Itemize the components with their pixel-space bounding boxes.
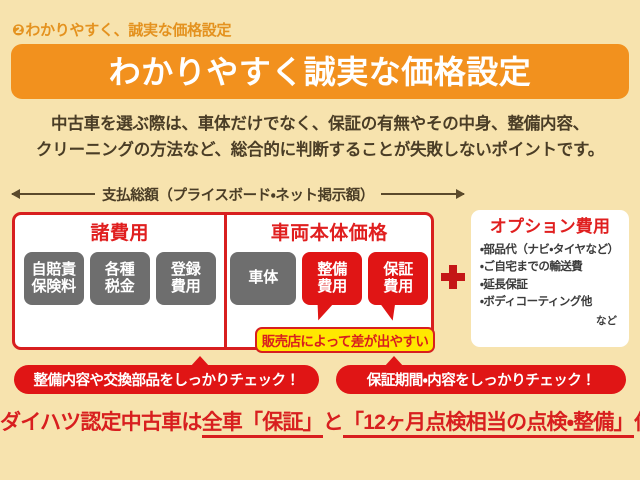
- options-cost-box: オプション費用 ・部品代（ナビ・タイヤなど） ・ご自宅までの輸送費 ・延長保証 …: [471, 210, 629, 347]
- plus-icon: [441, 265, 465, 289]
- options-list: ・部品代（ナビ・タイヤなど） ・ご自宅までの輸送費 ・延長保証 ・ボディコーティ…: [480, 242, 620, 311]
- chip-various-taxes: 各種 税金: [90, 252, 150, 305]
- banner-tail-icon: [190, 356, 210, 367]
- tagline-underline-inspection: 「12ヶ月点検相当の点検・整備」: [343, 411, 634, 438]
- list-item: ・部品代（ナビ・タイヤなど）: [480, 242, 620, 259]
- total-amount-row: 支払総額（プライスボード・ネット掲示額）: [12, 183, 464, 205]
- options-note: など: [480, 313, 620, 328]
- dealer-difference-callout: 販売店によって差が出やすい: [255, 327, 435, 353]
- section-kicker: ❷わかりやすく、誠実な価格設定: [12, 19, 231, 40]
- tagline-underline-warranty: 全車「保証」: [202, 411, 323, 438]
- page-title: わかりやすく誠実な価格設定: [109, 56, 532, 88]
- fees-column: 諸費用 自賠責 保険料 各種 税金 登録 費用: [15, 215, 227, 347]
- chip-line-2: 費用: [383, 279, 413, 296]
- chip-line-2: 費用: [317, 279, 347, 296]
- list-item: ・ボディコーティング他: [480, 294, 620, 311]
- chip-compulsory-insurance: 自賠責 保険料: [24, 252, 84, 305]
- total-amount-label: 支払総額（プライスボード・ネット掲示額）: [102, 184, 374, 205]
- lead-line-1: 中古車を選ぶ際は、車体だけでなく、保証の有無やその中身、整備内容、: [20, 112, 620, 138]
- chip-line-1: 各種: [105, 262, 135, 279]
- chip-line-1: 自賠責: [32, 262, 76, 279]
- fees-column-title: 諸費用: [15, 224, 224, 243]
- tagline-part-1: ダイハツ認定中古車は: [0, 411, 202, 434]
- lead-paragraph: 中古車を選ぶ際は、車体だけでなく、保証の有無やその中身、整備内容、 クリーニング…: [20, 112, 620, 163]
- infographic-page: ❷わかりやすく、誠実な価格設定 わかりやすく誠実な価格設定 中古車を選ぶ際は、車…: [0, 0, 640, 480]
- lead-line-2: クリーニングの方法など、総合的に判断することが失敗しないポイントです。: [20, 138, 620, 164]
- arrow-right-icon: [381, 193, 464, 195]
- list-item: ・ご自宅までの輸送費: [480, 259, 620, 276]
- chip-line-1: 登録: [171, 262, 201, 279]
- title-banner: わかりやすく誠実な価格設定: [11, 44, 629, 99]
- check-banner-text: 保証期間・内容をしっかりチェック！: [367, 369, 595, 390]
- tagline-part-2: と: [323, 411, 343, 434]
- chip-warranty-cost: 保証 費用: [368, 252, 428, 305]
- fees-chip-row: 自賠責 保険料 各種 税金 登録 費用: [15, 252, 224, 305]
- body-price-column-title: 車両本体価格: [227, 224, 431, 243]
- banner-tail-icon: [384, 356, 404, 367]
- body-price-chip-row: 車体 整備 費用 保証 費用: [227, 252, 431, 305]
- chip-line-1: 車体: [248, 270, 278, 287]
- chip-line-2: 保険料: [32, 279, 76, 296]
- check-banner-warranty: 保証期間・内容をしっかりチェック！: [336, 365, 626, 394]
- chip-line-2: 費用: [171, 279, 201, 296]
- chip-maintenance-cost: 整備 費用: [302, 252, 362, 305]
- kicker-number: ❷: [12, 22, 24, 39]
- callout-text: 販売店によって差が出やすい: [262, 330, 429, 350]
- check-banner-text: 整備内容や交換部品をしっかりチェック！: [34, 369, 300, 390]
- tagline-part-3: 付き: [634, 411, 640, 434]
- check-banner-maintenance: 整備内容や交換部品をしっかりチェック！: [14, 365, 319, 394]
- options-box-title: オプション費用: [480, 218, 620, 235]
- chip-registration-fee: 登録 費用: [156, 252, 216, 305]
- chip-line-1: 保証: [383, 262, 413, 279]
- chip-line-1: 整備: [317, 262, 347, 279]
- bottom-tagline: ダイハツ認定中古車は全車「保証」と「12ヶ月点検相当の点検・整備」付き: [0, 411, 640, 435]
- kicker-label: わかりやすく、誠実な価格設定: [25, 22, 231, 39]
- chip-vehicle-body: 車体: [230, 252, 296, 305]
- chip-line-2: 税金: [105, 279, 135, 296]
- arrow-left-icon: [12, 193, 95, 195]
- list-item: ・延長保証: [480, 277, 620, 294]
